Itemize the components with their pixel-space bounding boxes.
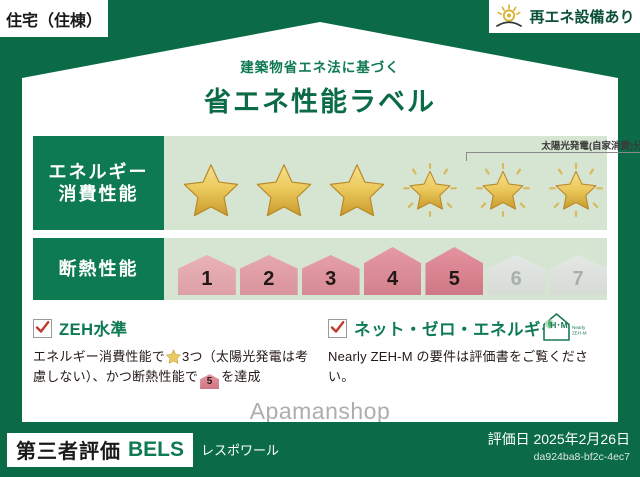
insulation-level-3: 3 — [302, 255, 360, 295]
criterion-header: ZEH水準 — [33, 316, 312, 340]
renewable-equipment-tag: 再エネ設備あり — [489, 0, 640, 33]
net-zero-description: Nearly ZEH-M の要件は評価書をご覧ください。 — [328, 347, 607, 387]
star-shining-5 — [470, 157, 535, 223]
insulation-rating-area: 1 2 3 4 5 — [164, 238, 607, 300]
energy-rating-area: 太陽光発電(自家消費)分 — [164, 136, 607, 230]
energy-label-line2: 消費性能 — [59, 183, 139, 206]
star-plain-2 — [251, 157, 316, 223]
insulation-performance-row: 断熱性能 1 2 3 4 — [33, 238, 607, 300]
zeh-standard-title: ZEH水準 — [59, 316, 128, 340]
label-title: 建築物省エネ法に基づく 省エネ性能ラベル — [0, 56, 640, 119]
net-zero-title: ネット・ゼロ・エネルギー — [354, 316, 558, 340]
zeh-standard-description: エネルギー消費性能で3つ（太陽光発電は考慮しない）、かつ断熱性能で5を達成 — [33, 347, 312, 389]
evaluation-info: 評価日 2025年2月26日 da924ba8-bf2c-4ec7 — [488, 429, 630, 463]
footer-bar: 第三者評価 BELS レスポワール 評価日 2025年2月26日 da924ba… — [0, 422, 640, 477]
insulation-level-number: 1 — [201, 268, 212, 291]
svg-text:H･M: H･M — [550, 320, 567, 330]
star-shining-6 — [543, 157, 608, 223]
insulation-level-scale: 1 2 3 4 5 — [164, 238, 607, 300]
insulation-level-number: 6 — [511, 268, 522, 291]
building-name: レスポワール — [201, 440, 279, 459]
criterion-net-zero-energy: ネット・ゼロ・エネルギー H･M Nearly ZEH-M Nearly ZEH… — [328, 316, 607, 412]
star-shining-4 — [397, 157, 462, 223]
insulation-level-number: 7 — [573, 268, 584, 291]
building-type-label: 住宅（住棟） — [6, 7, 102, 31]
insulation-level-1: 1 — [178, 255, 236, 295]
svg-text:Nearly: Nearly — [572, 325, 586, 330]
energy-label-line1: エネルギー — [49, 161, 149, 184]
insulation-label-text: 断熱性能 — [59, 258, 139, 281]
title-main: 省エネ性能ラベル — [0, 80, 640, 119]
net-zero-checkbox[interactable] — [328, 319, 347, 338]
energy-performance-row: エネルギー 消費性能 太陽光発電(自家消費)分 — [33, 136, 607, 230]
bels-badge: 第三者評価 BELS — [7, 433, 193, 467]
insulation-level-number: 2 — [263, 268, 274, 291]
insulation-level-2: 2 — [240, 255, 298, 295]
house-inline-icon: 5 — [200, 374, 219, 389]
zeh-m-logo-icon: H･M Nearly ZEH-M — [541, 311, 601, 343]
energy-performance-label: エネルギー 消費性能 — [33, 136, 164, 230]
zeh-standard-checkbox[interactable] — [33, 319, 52, 338]
star-plain-1 — [178, 157, 243, 223]
insulation-level-4: 4 — [364, 247, 422, 295]
evaluation-date: 評価日 2025年2月26日 — [488, 429, 630, 449]
insulation-level-6: 6 — [487, 255, 545, 295]
insulation-performance-label: 断熱性能 — [33, 238, 164, 300]
insulation-level-number: 5 — [449, 268, 460, 291]
star-plain-3 — [324, 157, 389, 223]
insulation-level-number: 4 — [387, 268, 398, 291]
insulation-level-number: 3 — [325, 268, 336, 291]
energy-label-screen: 住宅（住棟） 再エネ設備あり 建築物省エネ法に基づく 省エネ性能ラベル — [0, 0, 640, 477]
bels-jp-label: 第三者評価 — [16, 435, 121, 464]
energy-star-rating — [164, 154, 607, 226]
zeh-desc-part1: エネルギー消費性能で — [33, 349, 165, 364]
sun-icon — [494, 4, 524, 30]
star-inline-icon — [166, 349, 181, 364]
pv-portion-note: 太陽光発電(自家消費)分 — [464, 138, 640, 152]
house-inline-number: 5 — [207, 376, 213, 387]
bels-en-label: BELS — [128, 438, 184, 462]
criteria-section: ZEH水準 エネルギー消費性能で3つ（太陽光発電は考慮しない）、かつ断熱性能で5… — [33, 316, 607, 412]
criterion-zeh-standard: ZEH水準 エネルギー消費性能で3つ（太陽光発電は考慮しない）、かつ断熱性能で5… — [33, 316, 312, 412]
svg-text:ZEH-M: ZEH-M — [572, 331, 587, 336]
renewable-tag-label: 再エネ設備あり — [529, 6, 634, 27]
zeh-desc-part3: を達成 — [221, 369, 261, 384]
insulation-level-5: 5 — [425, 247, 483, 295]
criterion-header: ネット・ゼロ・エネルギー H･M Nearly ZEH-M — [328, 316, 607, 340]
title-subtitle: 建築物省エネ法に基づく — [0, 56, 640, 76]
evaluation-id: da924ba8-bf2c-4ec7 — [488, 451, 630, 463]
building-type-tag: 住宅（住棟） — [0, 0, 108, 37]
insulation-level-7: 7 — [549, 255, 607, 295]
